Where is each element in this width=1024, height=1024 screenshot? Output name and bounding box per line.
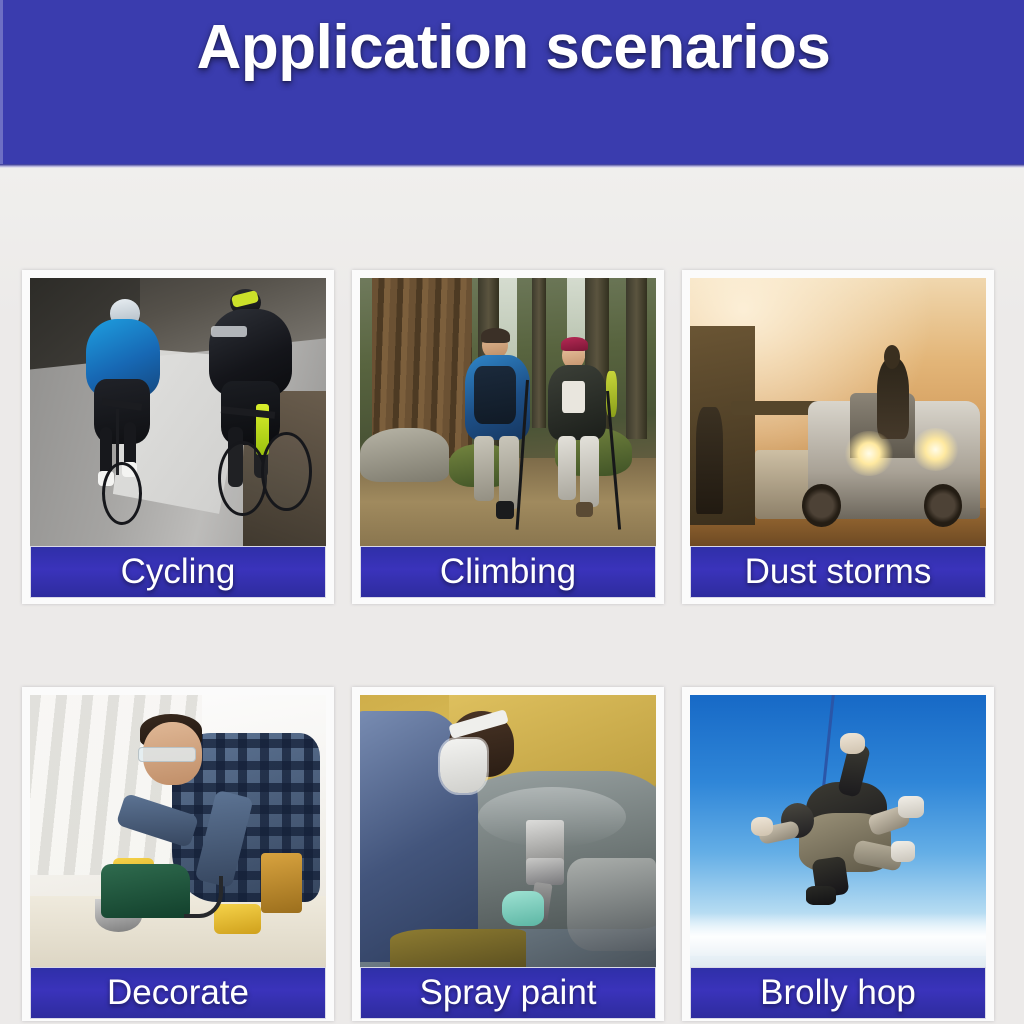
tandem-skydivers: [755, 733, 939, 907]
scenario-card-dust-storms[interactable]: Dust storms: [682, 270, 994, 604]
dust-storms-caption: Dust storms: [690, 546, 986, 598]
hiker-right: [544, 342, 615, 519]
cycling-photo: [30, 278, 326, 546]
climbing-caption: Climbing: [360, 546, 656, 598]
cyclist-right: [190, 289, 308, 519]
decorate-caption: Decorate: [30, 967, 326, 1019]
scenario-card-cycling[interactable]: Cycling: [22, 270, 334, 604]
scenario-card-spray-paint[interactable]: Spray paint: [352, 687, 664, 1021]
dust-storms-photo: [690, 278, 986, 546]
climbing-label: Climbing: [440, 552, 576, 592]
spray-paint-scene: [360, 695, 656, 967]
headlight-right-icon: [912, 428, 959, 471]
safety-goggles-icon: [138, 747, 196, 763]
decorate-scene: [30, 695, 326, 967]
climbing-scene: [360, 278, 656, 546]
cycling-caption: Cycling: [30, 546, 326, 598]
page-title: Application scenarios: [197, 12, 831, 83]
scenario-card-decorate[interactable]: Decorate: [22, 687, 334, 1021]
hiker-left: [461, 332, 538, 525]
spray-paint-label: Spray paint: [419, 973, 596, 1013]
brolly-hop-caption: Brolly hop: [690, 967, 986, 1019]
spray-paint-caption: Spray paint: [360, 967, 656, 1019]
brolly-hop-scene: [690, 695, 986, 967]
decorate-photo: [30, 695, 326, 967]
decorate-label: Decorate: [107, 973, 249, 1013]
scenario-card-brolly-hop[interactable]: Brolly hop: [682, 687, 994, 1021]
cycling-label: Cycling: [121, 552, 236, 592]
scenario-card-climbing[interactable]: Climbing: [352, 270, 664, 604]
header-banner: Application scenarios: [0, 0, 1024, 164]
respirator-mask-icon: [440, 739, 487, 793]
cyclist-left: [71, 299, 172, 519]
dust-storms-label: Dust storms: [745, 552, 932, 592]
brolly-hop-label: Brolly hop: [760, 973, 916, 1013]
brolly-hop-photo: [690, 695, 986, 967]
spray-paint-photo: [360, 695, 656, 967]
dust-storms-scene: [690, 278, 986, 546]
scenario-grid: Cycling: [0, 168, 1024, 1024]
cycling-scene: [30, 278, 326, 546]
climbing-photo: [360, 278, 656, 546]
